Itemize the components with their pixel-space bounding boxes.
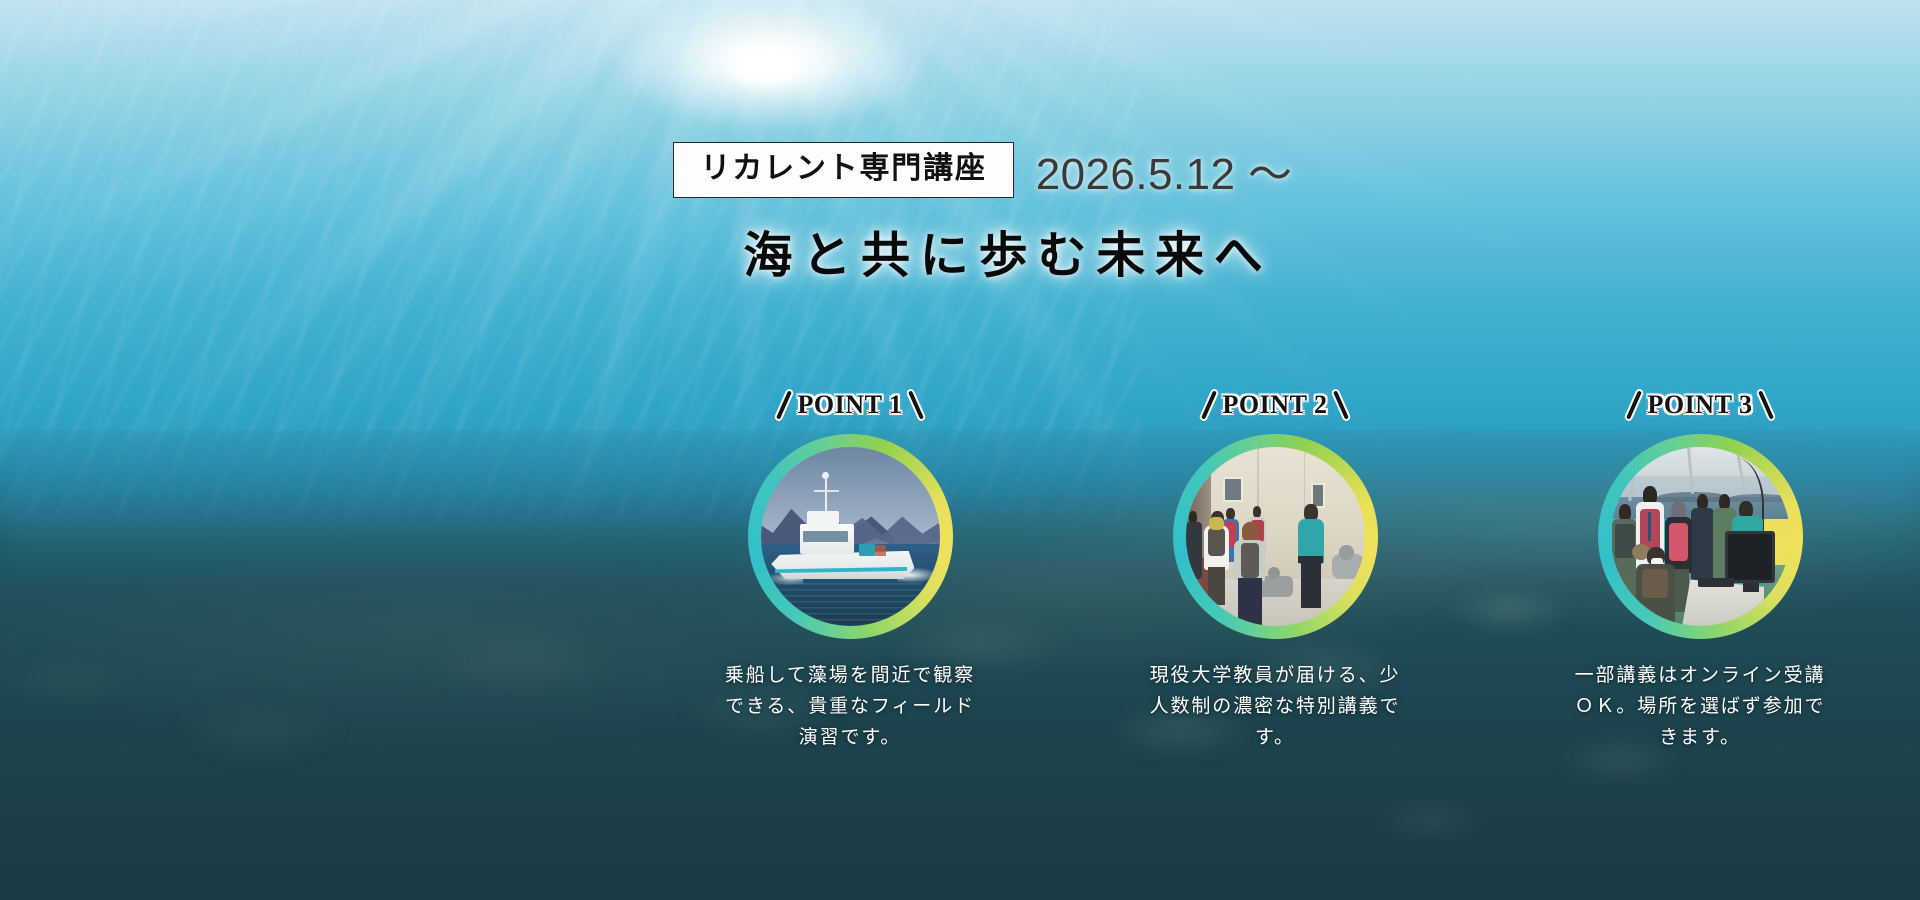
point-card-3: POINT 3 [1550,390,1850,753]
headline-top-row: リカレント専門講座 2026.5.12 〜 [673,138,1292,202]
headline-block: リカレント専門講座 2026.5.12 〜 海と共に歩む未来へ [0,138,1920,287]
point-label-text: POINT 2 [1222,390,1327,420]
slash-left-icon [777,390,793,419]
points-row: POINT 1 乗船して藻場を間近で観察できる、貴重なフィールド演 [700,390,1850,753]
course-date: 2026.5.12 〜 [1036,138,1293,202]
point-label-3: POINT 3 [1632,390,1767,420]
research-vessel-photo [761,447,940,626]
page-title: 海と共に歩む未来へ [743,216,1272,287]
slash-left-icon [1627,390,1643,419]
point-photo-ring-3 [1598,434,1803,639]
course-badge: リカレント専門講座 [673,142,1013,198]
boat-monitor-photo [1611,447,1790,626]
slash-right-icon [1758,390,1774,419]
slash-right-icon [1333,390,1349,419]
point-photo-2 [1186,447,1365,626]
point-photo-3 [1611,447,1790,626]
point-photo-1 [761,447,940,626]
point-caption-1: 乗船して藻場を間近で観察できる、貴重なフィールド演習です。 [717,661,983,753]
point-photo-ring-2 [1173,434,1378,639]
point-caption-2: 現役大学教員が届ける、少人数制の濃密な特別講義です。 [1142,661,1408,753]
point-card-1: POINT 1 乗船して藻場を間近で観察できる、貴重なフィールド演 [700,390,1000,753]
point-card-2: POINT 2 [1125,390,1425,753]
slash-right-icon [908,390,924,419]
point-label-text: POINT 3 [1647,390,1752,420]
point-label-1: POINT 1 [782,390,917,420]
point-label-text: POINT 1 [797,390,902,420]
point-photo-ring-1 [748,434,953,639]
underwater-promo-banner: リカレント専門講座 2026.5.12 〜 海と共に歩む未来へ POINT 1 [0,0,1920,900]
outdoor-lesson-photo [1186,447,1365,626]
point-label-2: POINT 2 [1207,390,1342,420]
point-caption-3: 一部講義はオンライン受講ＯＫ。場所を選ばず参加できます。 [1567,661,1833,753]
slash-left-icon [1202,390,1218,419]
